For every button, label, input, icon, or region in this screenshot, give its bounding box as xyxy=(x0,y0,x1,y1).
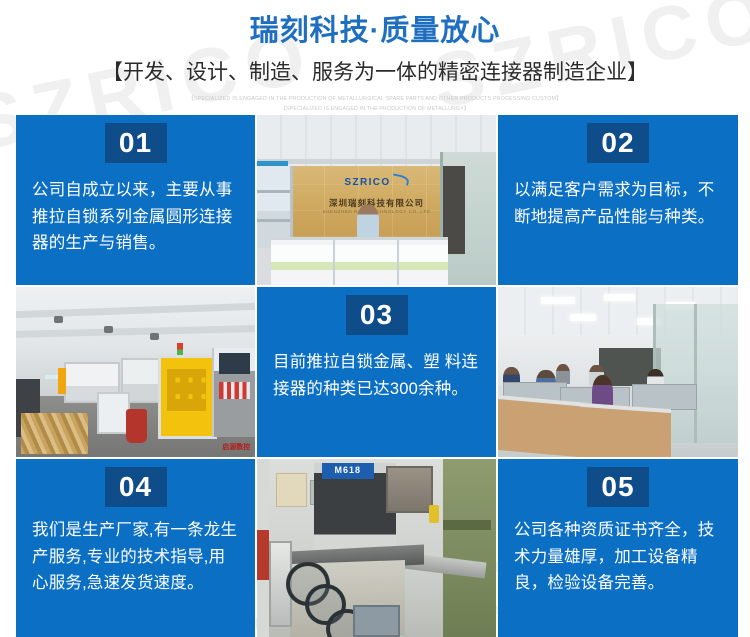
feature-text-02: 以满足客户需求为目标，不断地提高产品性能与种类。 xyxy=(514,177,724,230)
ceiling-light xyxy=(604,294,635,301)
feature-text-04: 我们是生产厂家,有一条龙生产服务,专业的技术指导,用心服务,急速发货速度。 xyxy=(32,517,241,597)
swoosh-icon xyxy=(391,174,409,186)
grinder-scene: M618 xyxy=(257,459,496,637)
pendant-lamp xyxy=(150,333,159,340)
feature-text-01: 公司自成立以来，主要从事推拉自锁系列金属圆形连接器的生产与销售。 xyxy=(32,177,241,257)
grinder-head xyxy=(386,466,433,513)
feature-cell-03: 03 目前推拉自锁金属、塑 料连接器的种类已达300余种。 xyxy=(257,287,496,457)
wood-pile xyxy=(21,413,88,454)
feature-cell-02: 02 以满足客户需求为目标，不断地提高产品性能与种类。 xyxy=(498,115,738,285)
english-tagline-2: 【SPECIALIZED IS ENGAGED IN THE PRODUCTIO… xyxy=(0,105,750,115)
badge-number-05: 05 xyxy=(587,467,649,507)
feature-cell-05: 05 公司各种资质证书齐全，技术力量雄厚，加工设备精良，检验设备完善。 xyxy=(498,459,738,637)
pendant-lamp xyxy=(54,316,63,323)
badge-number-02: 02 xyxy=(587,123,649,163)
page-subtitle: 【开发、设计、制造、服务为一体的精密连接器制造企业】 xyxy=(0,56,750,86)
machine-brand-label: 启源数控 xyxy=(212,442,250,452)
page-header: 瑞刻科技·质量放心 【开发、设计、制造、服务为一体的精密连接器制造企业】 【SP… xyxy=(0,0,750,115)
feature-grid: 01 公司自成立以来，主要从事推拉自锁系列金属圆形连接器的生产与销售。 SZRI… xyxy=(16,115,734,633)
adjacent-machine-rail xyxy=(443,520,491,531)
english-tagline-1: 【SPECIALIZED IS ENGAGED IN THE PRODUCTIO… xyxy=(0,95,750,105)
reception-scene: SZRICO 深圳瑞刻科技有限公司 SHENZHEN RICO TECHNOLO… xyxy=(257,115,496,285)
page-title: 瑞刻科技·质量放心 xyxy=(0,14,750,49)
parts-tray xyxy=(353,605,400,637)
workbench-partition xyxy=(632,384,696,410)
red-bin xyxy=(126,409,148,443)
feature-cell-01: 01 公司自成立以来，主要从事推拉自锁系列金属圆形连接器的生产与销售。 xyxy=(16,115,255,285)
feature-cell-04: 04 我们是生产厂家,有一条龙生产服务,专业的技术指导,用心服务,急速发货速度。 xyxy=(16,459,255,637)
reception-photo: SZRICO 深圳瑞刻科技有限公司 SHENZHEN RICO TECHNOLO… xyxy=(257,115,496,285)
wall-notice xyxy=(276,473,307,507)
cnc-lathe-door xyxy=(158,355,217,439)
pendant-lamp xyxy=(104,326,113,333)
office-scene xyxy=(498,287,738,457)
company-logo: SZRICO xyxy=(319,176,434,188)
oil-bottle xyxy=(429,505,439,523)
wall-pipe xyxy=(257,459,269,637)
window xyxy=(257,166,293,248)
ceiling-light xyxy=(541,297,575,304)
adjacent-machine xyxy=(443,459,496,637)
control-buttons xyxy=(219,382,250,399)
feature-text-03: 目前推拉自锁金属、塑 料连接器的种类已达300余种。 xyxy=(273,349,482,402)
badge-number-04: 04 xyxy=(105,467,167,507)
logo-wordmark: SZRICO xyxy=(344,177,390,188)
work-desk xyxy=(580,403,671,457)
reception-desk xyxy=(271,237,448,285)
grinder-photo: M618 xyxy=(257,459,496,637)
badge-number-01: 01 xyxy=(105,123,167,163)
ceiling-light xyxy=(570,314,596,321)
company-name-cn: 深圳瑞刻科技有限公司 xyxy=(300,197,453,209)
machine-model-label: M618 xyxy=(322,463,375,479)
office-photo xyxy=(498,287,738,457)
cnc-workshop-photo: 启源数控 xyxy=(16,287,255,457)
worker xyxy=(556,364,570,384)
work-desk xyxy=(498,395,589,457)
cnc-scene: 启源数控 xyxy=(16,287,255,457)
feature-text-05: 公司各种资质证书齐全，技术力量雄厚，加工设备精良，检验设备完善。 xyxy=(514,517,724,597)
badge-number-03: 03 xyxy=(346,295,408,335)
cnc-screen xyxy=(219,353,250,373)
